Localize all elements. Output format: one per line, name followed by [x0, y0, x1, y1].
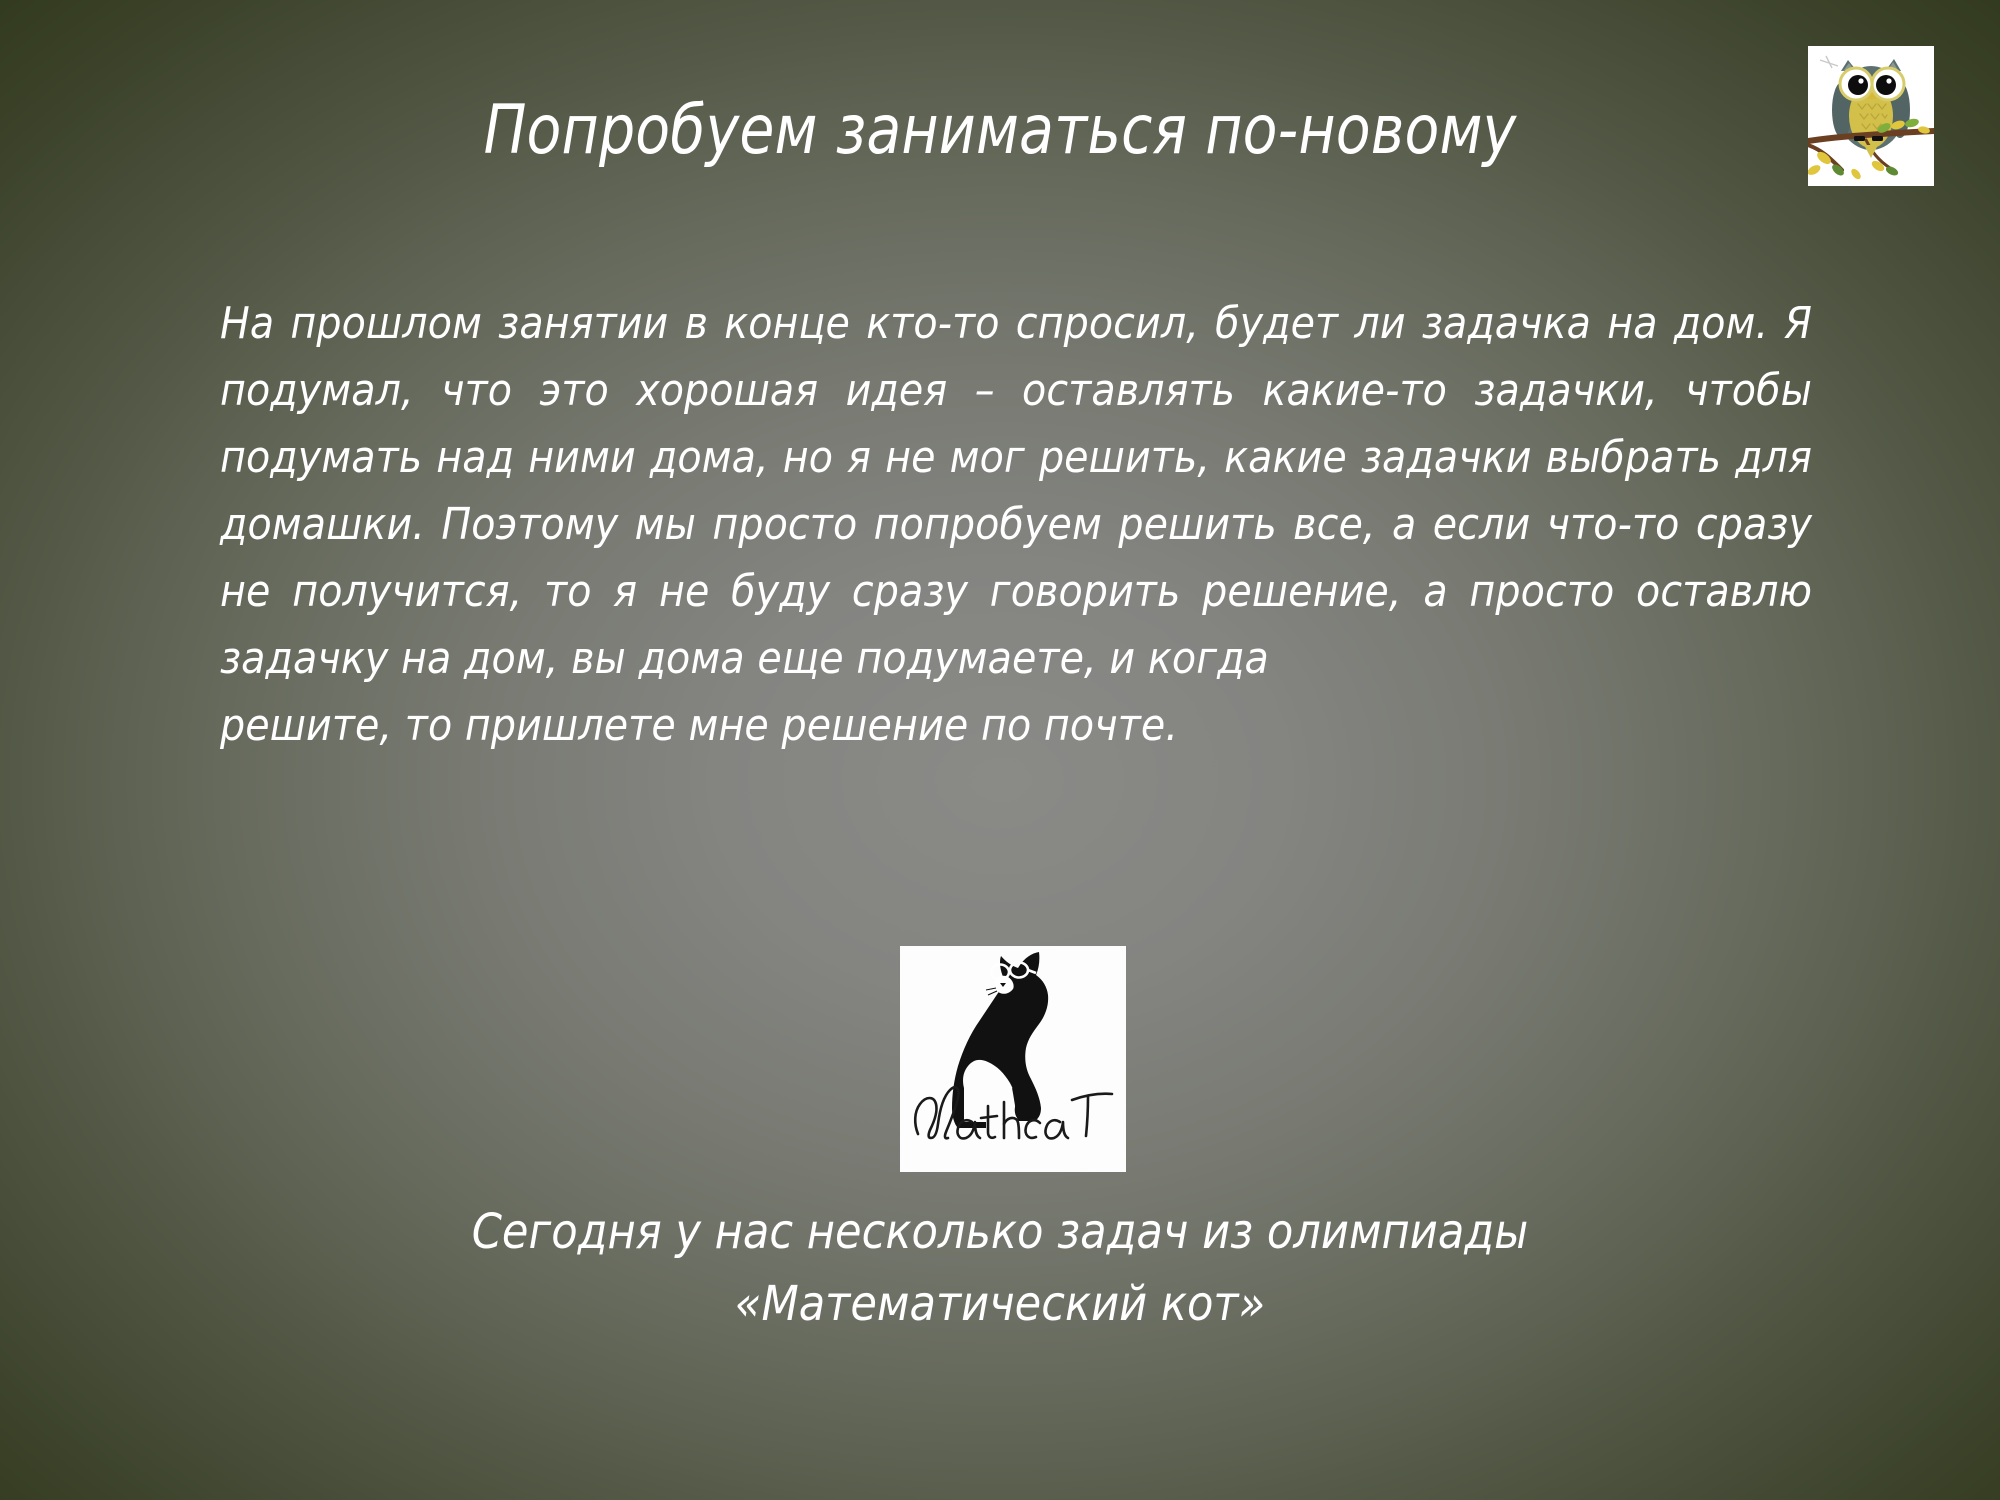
body-paragraph-last-line: решите, то пришлете мне решение по почте…	[220, 692, 1812, 759]
mathcat-logo	[900, 946, 1126, 1172]
page-title: Попробуем заниматься по-новому	[70, 96, 1930, 167]
owl-icon	[1808, 46, 1934, 186]
closing-text: Сегодня у нас несколько задач из олимпиа…	[0, 1196, 2000, 1340]
owl-logo	[1808, 46, 1934, 186]
slide-canvas: Попробуем заниматься по-новому На прошло…	[0, 0, 2000, 1500]
closing-line-1: Сегодня у нас несколько задач из олимпиа…	[0, 1196, 2000, 1268]
body-paragraph-main: На прошлом занятии в конце кто-то спроси…	[220, 290, 1812, 692]
body-paragraph: На прошлом занятии в конце кто-то спроси…	[220, 290, 1812, 759]
mathcat-cat-icon	[900, 946, 1126, 1172]
closing-line-2: «Математический кот»	[0, 1268, 2000, 1340]
